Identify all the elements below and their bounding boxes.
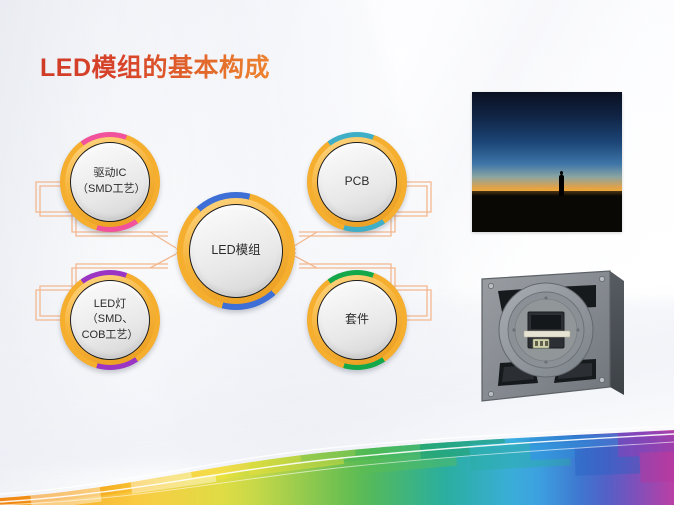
foreground-ground: [472, 196, 622, 232]
rainbow-wave-footer: [0, 390, 674, 505]
led-module-composition-diagram: LED模组 驱动IC （SMD工艺） LED灯 （SMD、COB工艺）: [0, 0, 450, 420]
diagram-node-center[interactable]: LED模组: [177, 192, 295, 310]
node-disc: LED模组: [189, 204, 283, 298]
node-label: 驱动IC （SMD工艺）: [71, 166, 149, 197]
diagram-node-kit[interactable]: 套件: [307, 270, 407, 370]
node-label: 套件: [339, 311, 375, 328]
node-disc: 驱动IC （SMD工艺）: [70, 142, 150, 222]
diagram-node-driver-ic[interactable]: 驱动IC （SMD工艺）: [60, 132, 160, 232]
diagram-node-pcb[interactable]: PCB: [307, 132, 407, 232]
node-label: LED模组: [205, 242, 266, 260]
node-label: PCB: [339, 173, 376, 190]
sky-gradient: [472, 92, 622, 198]
person-silhouette: [559, 175, 564, 196]
sunset-silhouette-photo: [472, 92, 622, 232]
diagram-node-led-lamp[interactable]: LED灯 （SMD、COB工艺）: [60, 270, 160, 370]
node-disc: LED灯 （SMD、COB工艺）: [70, 280, 150, 360]
node-disc: 套件: [317, 280, 397, 360]
node-disc: PCB: [317, 142, 397, 222]
node-label: LED灯 （SMD、COB工艺）: [71, 297, 149, 344]
slide-canvas: LED模组的基本构成: [0, 0, 674, 505]
